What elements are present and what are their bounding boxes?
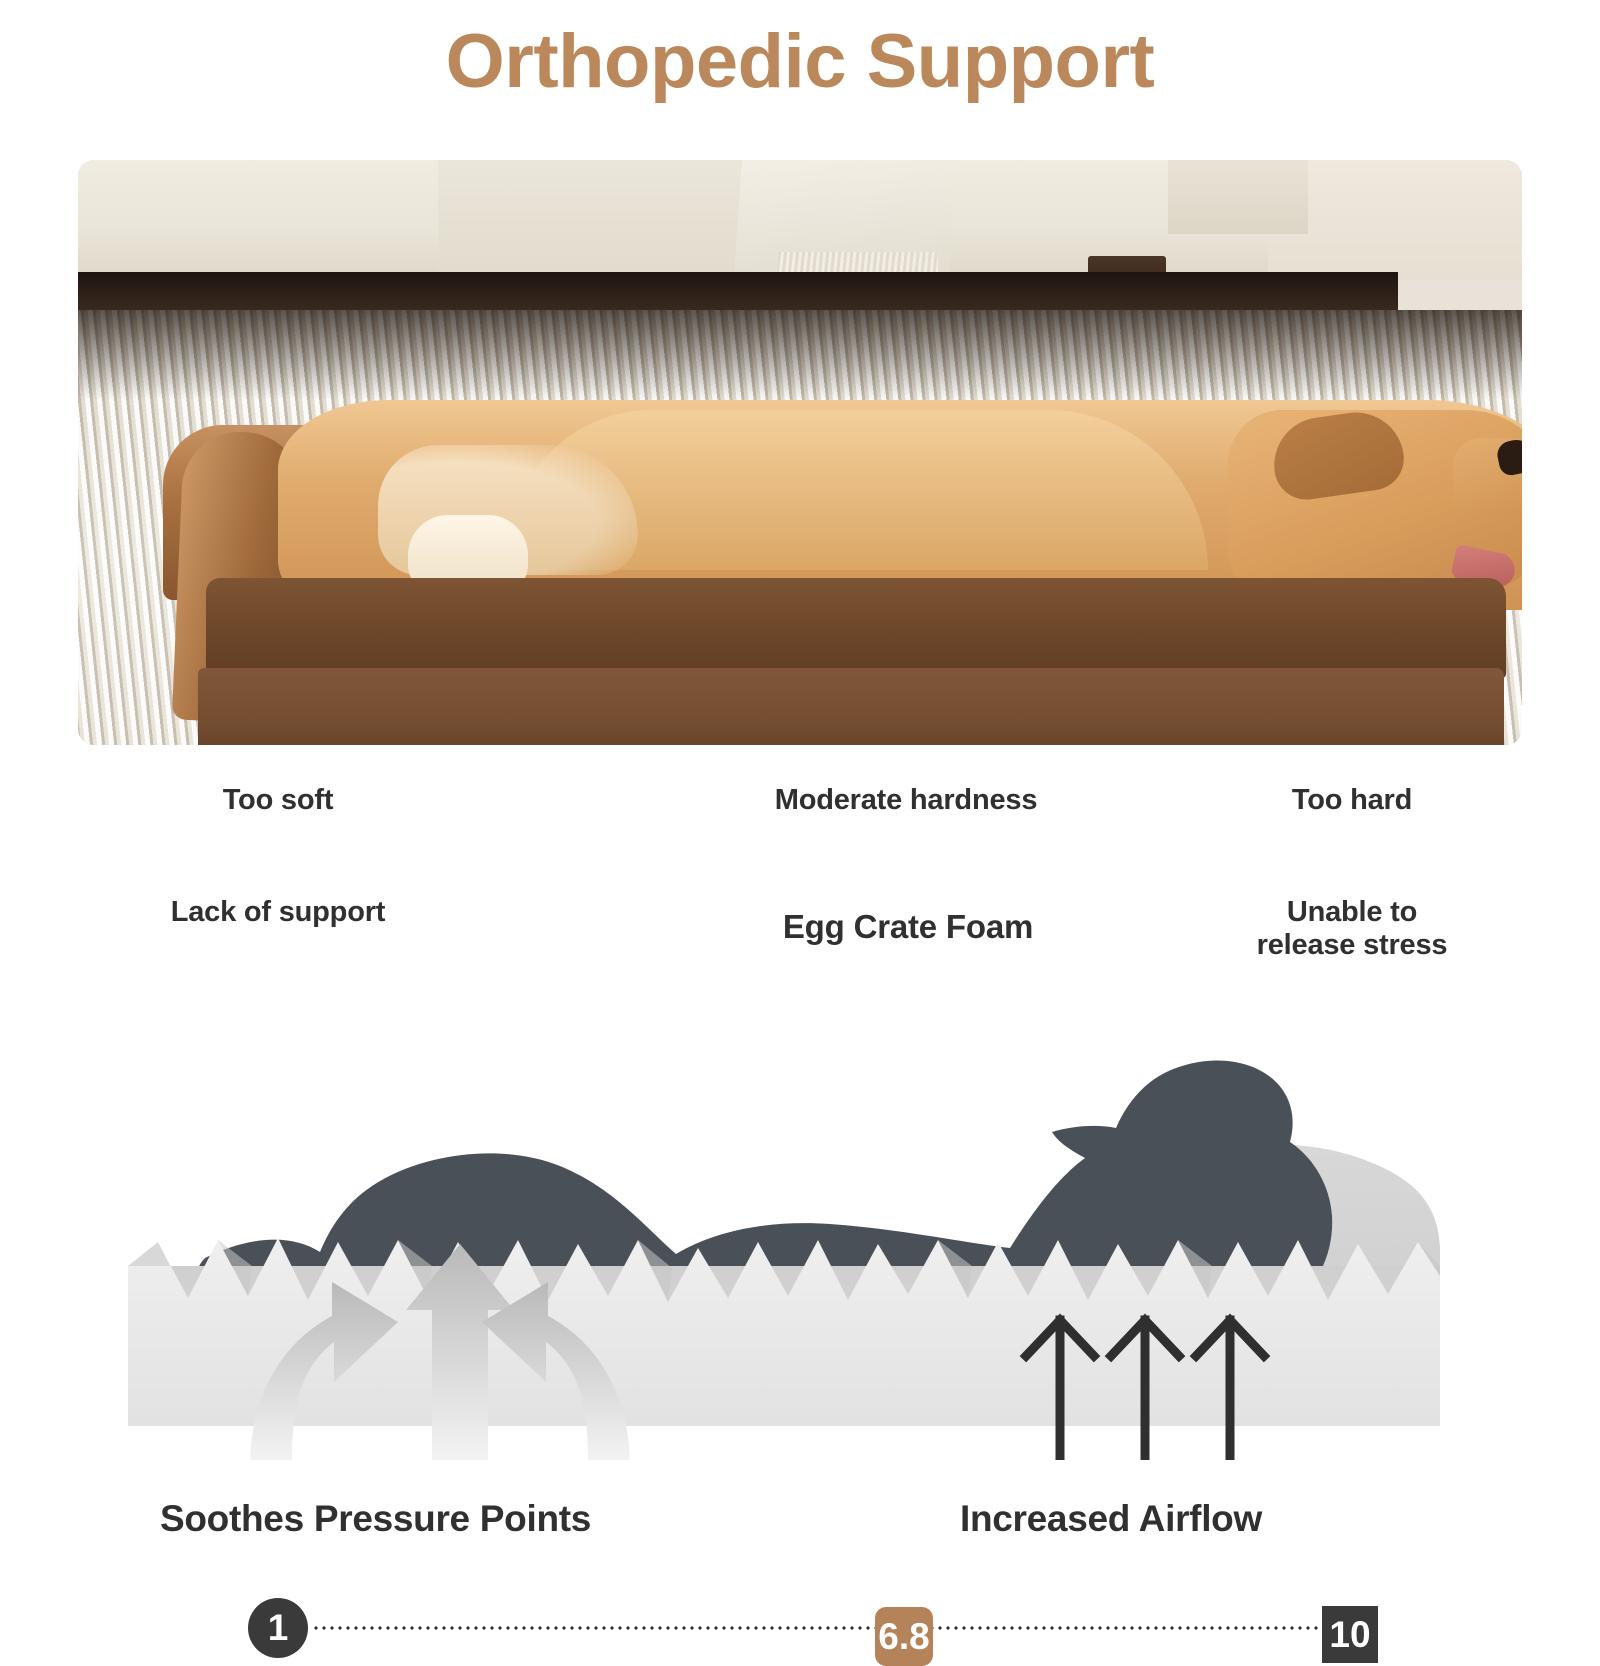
- foam-cross-section-diagram: [0, 990, 1600, 1460]
- infographic-page: Orthopedic Support Too soft 1: [0, 0, 1600, 1600]
- scale-right-bottom-line1: Unable to: [1184, 896, 1520, 929]
- scale-right-bottom-line2: release stress: [1184, 929, 1520, 962]
- photo-bed-base: [198, 668, 1504, 745]
- scale-right-top-label: Too hard: [1196, 784, 1508, 817]
- photo-bed-front-cushion: [206, 578, 1506, 678]
- scale-dotted-line: [312, 1625, 1322, 1631]
- firmness-scale: Too soft 1 Lack of support Moderate hard…: [0, 770, 1600, 985]
- page-title: Orthopedic Support: [0, 22, 1600, 102]
- product-photo: [78, 160, 1522, 745]
- photo-sofa-right-panel: [1168, 160, 1308, 234]
- photo-sofa-cushion-seam: [438, 160, 768, 272]
- scale-badge-min: 1: [248, 1598, 308, 1658]
- scale-middle-top-label: Moderate hardness: [706, 784, 1106, 817]
- photo-rug-shadow: [78, 310, 1522, 400]
- scale-left-top-label: Too soft: [132, 784, 424, 817]
- scale-badge-value: 6.8: [875, 1607, 933, 1666]
- pressure-points-label: Soothes Pressure Points: [160, 1498, 591, 1540]
- airflow-arrows-icon: [1026, 1320, 1264, 1460]
- scale-badge-max: 10: [1322, 1606, 1378, 1663]
- scale-right-bottom-label: Unable to release stress: [1184, 896, 1520, 962]
- scale-left-bottom-label: Lack of support: [116, 896, 440, 929]
- airflow-label: Increased Airflow: [960, 1498, 1262, 1540]
- scale-middle-bottom-label: Egg Crate Foam: [736, 908, 1080, 946]
